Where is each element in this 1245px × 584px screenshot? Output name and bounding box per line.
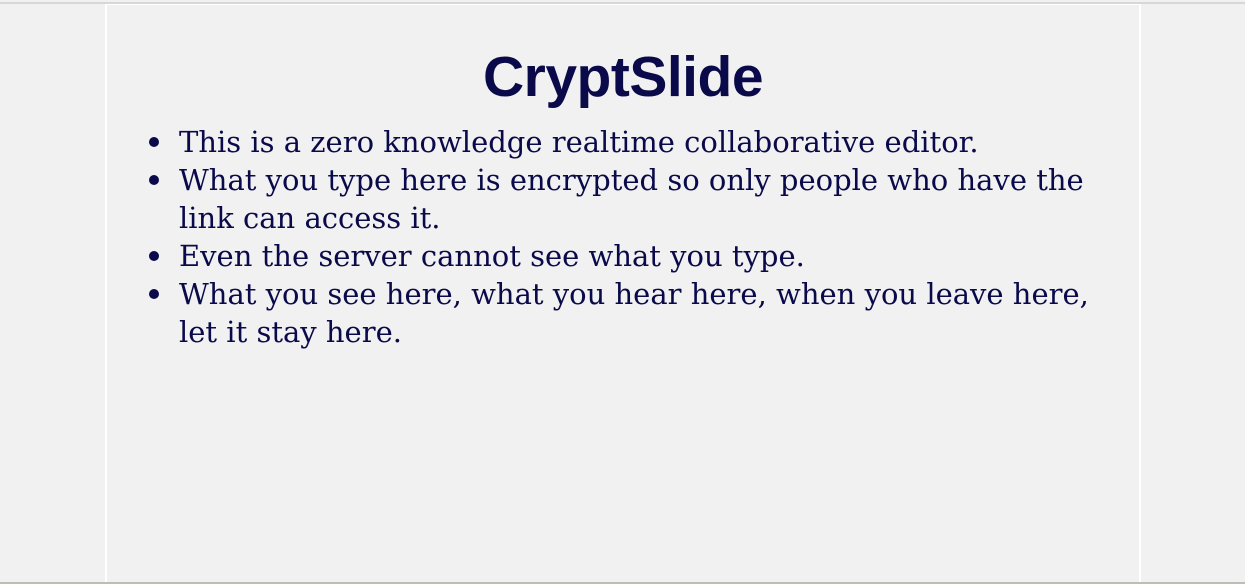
slide-bullet-item[interactable]: This is a zero knowledge realtime collab…	[107, 123, 1139, 161]
slide-bullet-text: What you type here is encrypted so only …	[179, 161, 1099, 237]
slide-bullet-item[interactable]: Even the server cannot see what you type…	[107, 237, 1139, 275]
slide-bullet-text: This is a zero knowledge realtime collab…	[179, 123, 1099, 161]
bullet-point-icon	[149, 251, 159, 261]
slide-canvas-panel[interactable]: CryptSlide This is a zero knowledge real…	[105, 4, 1141, 582]
slide-bullet-item[interactable]: What you type here is encrypted so only …	[107, 161, 1139, 237]
bullet-point-icon	[149, 137, 159, 147]
bullet-point-icon	[149, 175, 159, 185]
slide-bullet-item[interactable]: What you see here, what you hear here, w…	[107, 275, 1139, 351]
slide-bullet-text: What you see here, what you hear here, w…	[179, 275, 1099, 351]
bullet-point-icon	[149, 289, 159, 299]
slide-bullet-text: Even the server cannot see what you type…	[179, 237, 1099, 275]
slide-bullet-list: This is a zero knowledge realtime collab…	[107, 123, 1139, 351]
slide-title[interactable]: CryptSlide	[107, 49, 1139, 106]
slide-viewer-root: CryptSlide This is a zero knowledge real…	[0, 0, 1245, 584]
